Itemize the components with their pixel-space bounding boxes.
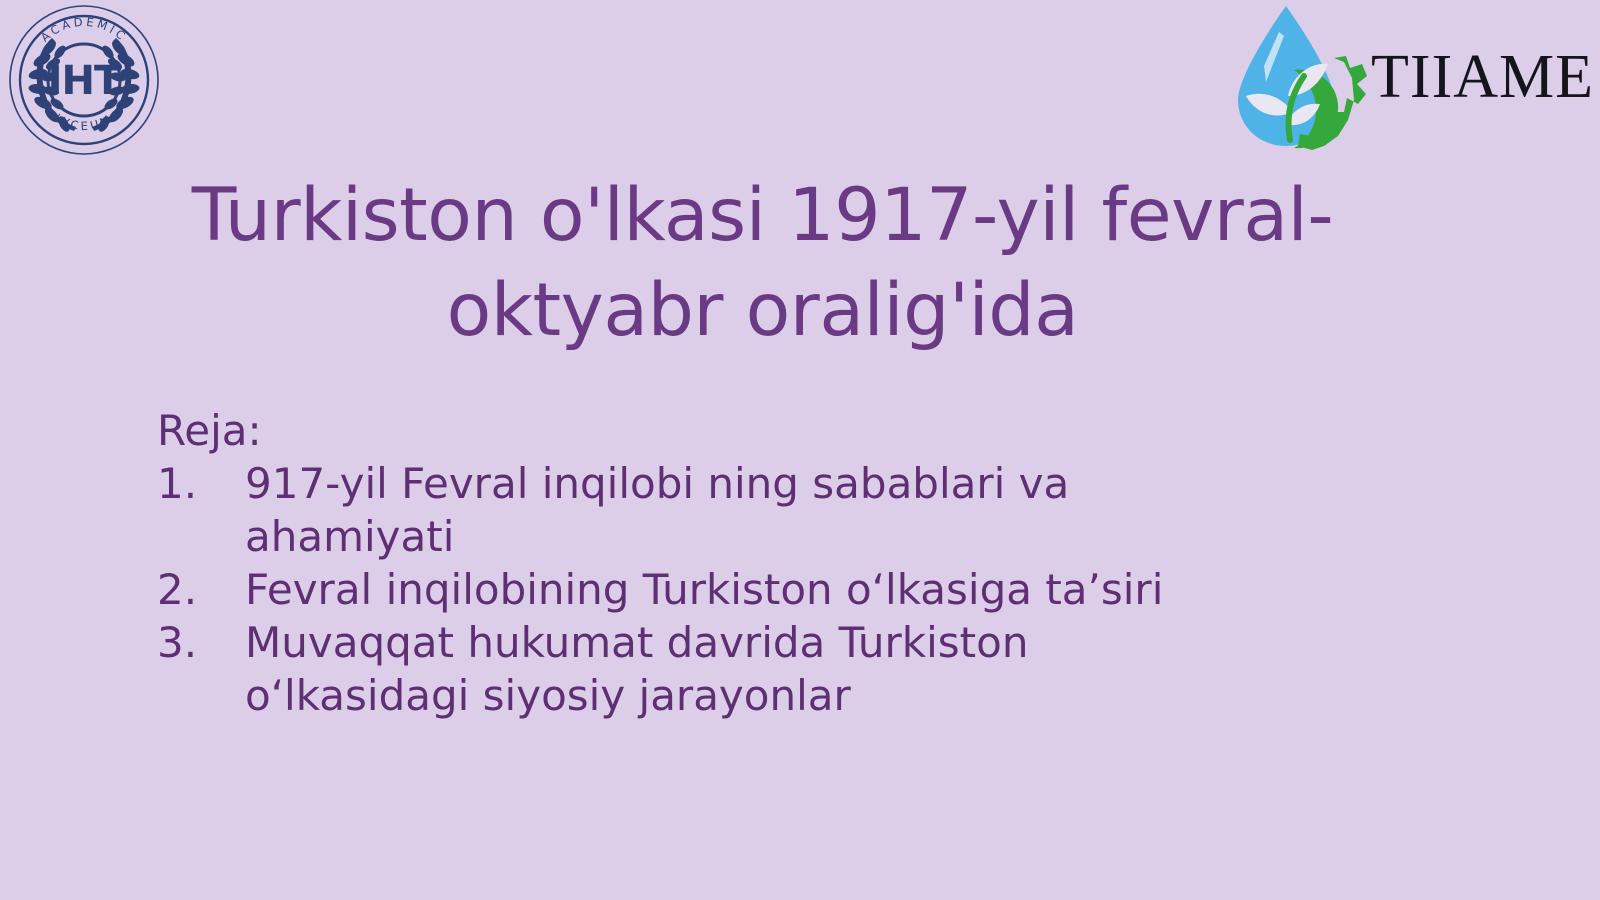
tiiame-mark-icon (1224, 0, 1369, 160)
page-title: Turkiston o'lkasi 1917-yil fevral- oktya… (180, 168, 1345, 358)
iht-arc-top-text: ACADEMIC (38, 15, 130, 45)
list-item-number: 2. (157, 563, 245, 616)
list-item: 1. 917-yil Fevral inqilobi ning sabablar… (157, 457, 1337, 563)
iht-arc-bottom-text: LYCEUM (52, 111, 115, 133)
iht-academic-lyceum-logo: ACADEMIC LYCEUM IHT (8, 4, 160, 156)
list-item-text: Fevral inqilobining Turkiston o‘lkasiga … (245, 563, 1250, 616)
iht-monogram: IHT (48, 58, 122, 104)
tiiame-wordmark: TIIAME (1371, 46, 1594, 108)
reja-list: 1. 917-yil Fevral inqilobi ning sabablar… (157, 457, 1337, 722)
list-item: 3. Muvaqqat hukumat davrida Turkiston o‘… (157, 616, 1337, 722)
slide-body: Reja: 1. 917-yil Fevral inqilobi ning sa… (157, 404, 1337, 722)
list-item-text: Muvaqqat hukumat davrida Turkiston o‘lka… (245, 616, 1250, 722)
title-line-2: oktyabr oralig'ida (180, 263, 1345, 358)
list-item-number: 3. (157, 616, 245, 669)
list-item-number: 1. (157, 457, 245, 510)
title-line-1: Turkiston o'lkasi 1917-yil fevral- (180, 168, 1345, 263)
list-item-text: 917-yil Fevral inqilobi ning sabablari v… (245, 457, 1250, 563)
presentation-slide: ACADEMIC LYCEUM IHT (0, 0, 1600, 900)
list-item: 2. Fevral inqilobining Turkiston o‘lkasi… (157, 563, 1337, 616)
reja-heading: Reja: (157, 404, 1337, 457)
tiiame-logo: TIIAME (1224, 0, 1594, 160)
